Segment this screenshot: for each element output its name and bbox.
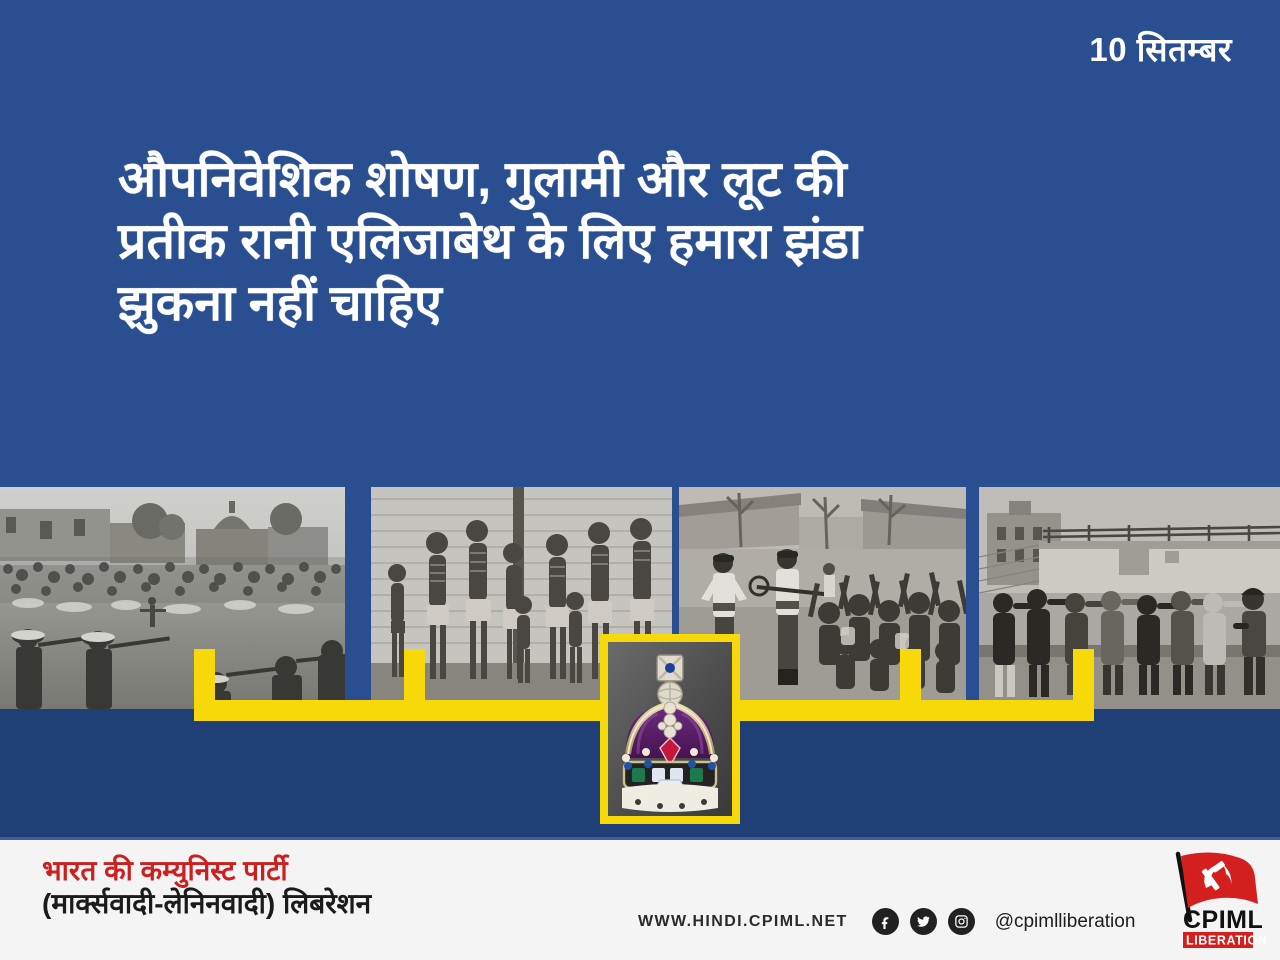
cpiml-logo: CPIML LIBERATION [1162, 848, 1266, 952]
poster-canvas: 10 सितम्बर औपनिवेशिक शोषण, गुलामी और लूट… [0, 0, 1280, 960]
facebook-icon[interactable] [872, 908, 899, 935]
headline-line-1: औपनिवेशिक शोषण, गुलामी और लूट की [118, 148, 1188, 210]
party-name-line-1: भारत की कम्युनिस्ट पार्टी [42, 854, 371, 887]
party-name-line-2: (मार्क्सवादी-लेनिनवादी) लिबरेशन [42, 887, 371, 920]
imperial-crown-icon [608, 642, 732, 816]
logo-liberation-text: LIBERATION [1186, 934, 1266, 948]
website-url[interactable]: WWW.HINDI.CPIML.NET [638, 913, 848, 931]
date-label: 10 सितम्बर [1089, 32, 1232, 68]
cpiml-liberation-logo-icon: CPIML LIBERATION [1162, 848, 1266, 952]
party-name: भारत की कम्युनिस्ट पार्टी (मार्क्सवादी-ल… [42, 854, 371, 920]
instagram-icon[interactable] [948, 908, 975, 935]
photo-wall-search [979, 487, 1280, 709]
header-band: 10 सितम्बर औपनिवेशिक शोषण, गुलामी और लूट… [0, 0, 1280, 487]
headline-line-2: प्रतीक रानी एलिजाबेथ के लिए हमारा झंडा [118, 210, 1188, 272]
footer-bar: भारत की कम्युनिस्ट पार्टी (मार्क्सवादी-ल… [0, 837, 1280, 960]
jallianwala-bagh-illustration-icon [0, 487, 345, 709]
twitter-icon[interactable] [910, 908, 937, 935]
logo-cpiml-text: CPIML [1183, 906, 1263, 934]
headline-line-3: झुकना नहीं चाहिए [118, 272, 1188, 334]
contact-row: WWW.HINDI.CPIML.NET @cpimlliberation [638, 908, 1135, 935]
photo-jallianwala-bagh [0, 487, 345, 709]
page-title: औपनिवेशिक शोषण, गुलामी और लूट की प्रतीक … [118, 148, 1188, 334]
social-handle[interactable]: @cpimlliberation [995, 911, 1136, 933]
photo-imperial-crown [600, 634, 740, 824]
wall-search-photo-icon [979, 487, 1280, 709]
